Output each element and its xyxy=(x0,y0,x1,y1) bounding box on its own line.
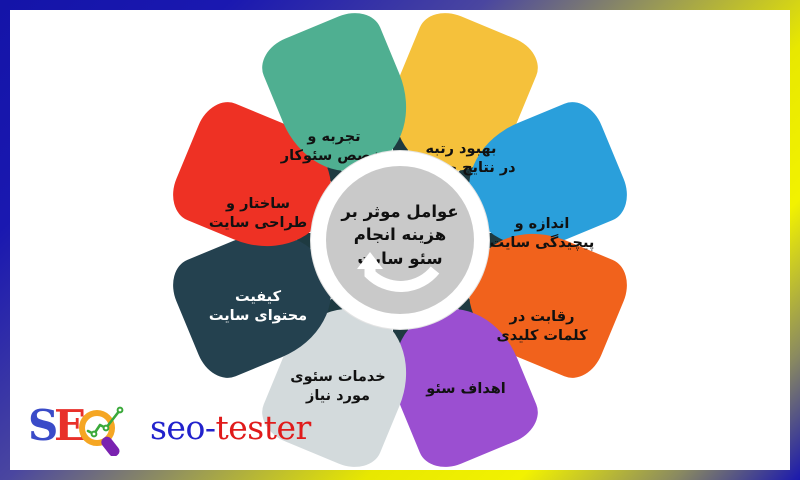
seo-logo-mark: S E xyxy=(28,398,140,456)
logo-wordmark-part2: tester xyxy=(215,408,310,447)
logo[interactable]: S E seo-tester xyxy=(28,398,311,456)
magnifier-chart-icon: S E xyxy=(28,398,140,456)
petal-label-7: ساختار و طراحی سایت xyxy=(196,195,320,233)
logo-wordmark-part1: seo- xyxy=(150,408,215,447)
petal-label-3: رقابت در کلمات کلیدی xyxy=(480,308,604,346)
petal-label-2: اندازه و پیچیدگی سایت xyxy=(480,215,604,253)
diagram-canvas: بهبود رتبه در نتایج جستجو اندازه و پیچید… xyxy=(10,10,790,470)
hub-circle[interactable]: عوامل موثر بر هزینه انجام سئو سایت xyxy=(326,166,474,314)
decorative-gradient-frame: بهبود رتبه در نتایج جستجو اندازه و پیچید… xyxy=(0,0,800,480)
hub-title: عوامل موثر بر هزینه انجام سئو سایت xyxy=(341,200,458,280)
petal-label-4: اهداف سئو xyxy=(404,380,528,399)
petal-label-6: کیفیت محتوای سایت xyxy=(196,288,320,326)
logo-wordmark: seo-tester xyxy=(150,411,311,444)
